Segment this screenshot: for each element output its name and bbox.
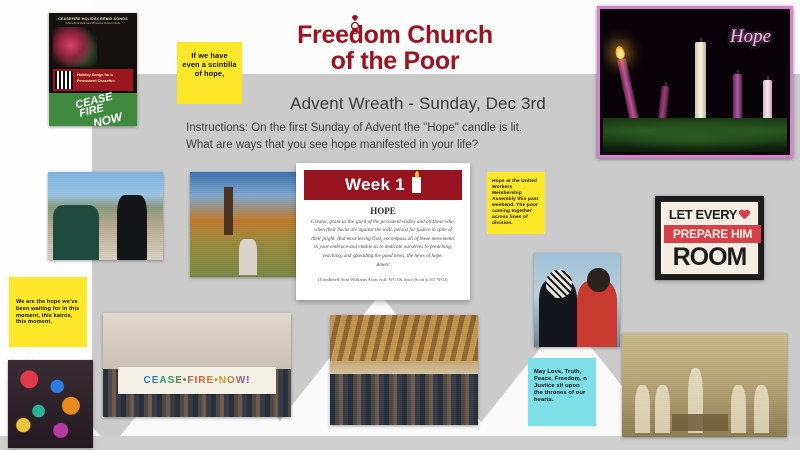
photo-figure: [635, 385, 650, 433]
note-we-are-the-hope[interactable]: We are the hope we've been waiting for i…: [9, 277, 87, 347]
photo-abstract-art[interactable]: [8, 360, 93, 448]
photo-texture: [330, 315, 478, 425]
slide-subtitle: Advent Wreath - Sunday, Dec 3rd: [218, 94, 618, 114]
week-card-label: Week 1: [345, 175, 405, 195]
advent-hope-caption: Hope: [730, 26, 771, 48]
photo-banner-text: CEASE•FIRE•NOW!: [143, 375, 250, 386]
instructions-block: Instructions: On the first Sunday of Adv…: [186, 120, 616, 153]
candle-icon: [412, 177, 421, 193]
poster-artwork: [53, 27, 97, 67]
advent-wreath-inner: Hope: [603, 12, 787, 152]
note-scintilla-of-hope[interactable]: If we have even a scintilla of hope,: [177, 42, 242, 104]
prayer-body-text: Creator, grant us the spirit of the pers…: [311, 219, 455, 259]
poster-subtitle: A Benefit for Relief and Protection Fund…: [49, 22, 137, 25]
advent-greenery: [603, 118, 787, 152]
week-card-header: Week 1: [304, 170, 462, 200]
candle-wick-icon: [767, 76, 769, 80]
photo-community-hall[interactable]: [330, 315, 478, 425]
photo-autumn-field[interactable]: [190, 172, 302, 277]
slide-canvas: Freedom Church of the Poor Advent Wreath…: [0, 0, 800, 450]
candle-wick-icon: [737, 70, 739, 74]
photo-protest-street[interactable]: [48, 172, 163, 260]
photo-table: [672, 414, 728, 431]
room-sign-line-1-text: LET EVERY: [669, 207, 737, 222]
photo-tree-trunk: [224, 187, 233, 235]
church-logo-icon: [347, 14, 363, 34]
prayer-amen: Amen!: [309, 261, 457, 269]
advent-wreath-photo[interactable]: Hope: [597, 6, 793, 158]
photo-sepia-historical[interactable]: [622, 333, 787, 437]
poster-qr-band: Holiday Songs for a Permanent Ceasefire: [53, 69, 133, 91]
room-sign-line-1: LET EVERY: [661, 207, 758, 222]
prayer-body: Creator, grant us the spirit of the pers…: [309, 218, 457, 270]
week-1-prayer-card[interactable]: Week 1 HOPE Creator, grant us the spirit…: [296, 163, 470, 300]
room-sign-line-3: ROOM: [661, 245, 758, 270]
note-we-are-the-hope-text: We are the hope we've been waiting for i…: [16, 299, 79, 325]
instructions-line-1: Instructions: On the first Sunday of Adv…: [186, 120, 616, 137]
candle-wick-icon: [700, 38, 702, 42]
prayer-title: HOPE: [296, 206, 470, 216]
photo-art-shapes: [8, 360, 93, 448]
note-united-workers-assembly[interactable]: Hope at the United Workers Membership As…: [487, 172, 545, 234]
heart-icon: [739, 210, 750, 220]
photo-figure: [117, 195, 147, 260]
ceasefire-holiday-remix-poster[interactable]: CEASEFIRE HOLIDAY REMIX SONGS A Benefit …: [49, 13, 137, 126]
poster-band-text: Holiday Songs for a Permanent Ceasefire: [77, 73, 131, 84]
note-thrones-text: May Love, Truth, Peace, Freedom, n Justi…: [534, 369, 587, 403]
candle-flame-icon: [614, 45, 626, 60]
prayer-credit: (Combined from Williams Scott et al: WCJ…: [309, 276, 457, 283]
page-title: Freedom Church of the Poor: [245, 22, 545, 75]
photo-embrace[interactable]: [534, 253, 620, 347]
background-bottom-strip: [0, 436, 800, 450]
photo-figure: [655, 385, 670, 433]
note-scintilla-text: If we have even a scintilla of hope,: [182, 51, 236, 78]
note-thrones-of-our-hearts[interactable]: May Love, Truth, Peace, Freedom, n Justi…: [528, 358, 596, 426]
instructions-line-2: What are ways that you see hope manifest…: [186, 137, 616, 154]
photo-banner-overlay: CEASE•FIRE•NOW!: [118, 367, 276, 394]
room-sign-inner: LET EVERY PREPARE HIM ROOM: [660, 201, 759, 275]
photo-figure: [239, 239, 257, 275]
poster-green-panel: CEASE FIRE NOW: [49, 93, 137, 126]
photo-figure: [754, 385, 769, 433]
photo-keffiyeh: [546, 270, 572, 298]
photo-figure: [731, 385, 746, 433]
photo-head: [587, 268, 609, 292]
room-sign-line-2: PREPARE HIM: [664, 225, 761, 243]
note-united-workers-text: Hope at the United Workers Membership As…: [492, 179, 538, 226]
poster-title: CEASEFIRE HOLIDAY REMIX SONGS: [49, 17, 137, 21]
candle-wick-icon: [665, 82, 667, 86]
brand-line-1: Freedom Church: [245, 22, 545, 48]
brand-line-2: of the Poor: [245, 48, 545, 74]
prepare-him-room-sign[interactable]: LET EVERY PREPARE HIM ROOM: [655, 196, 764, 280]
qr-code-icon[interactable]: [55, 71, 73, 89]
photo-ceasefire-banner[interactable]: CEASE•FIRE•NOW!: [103, 313, 291, 417]
photo-figure: [53, 205, 99, 260]
